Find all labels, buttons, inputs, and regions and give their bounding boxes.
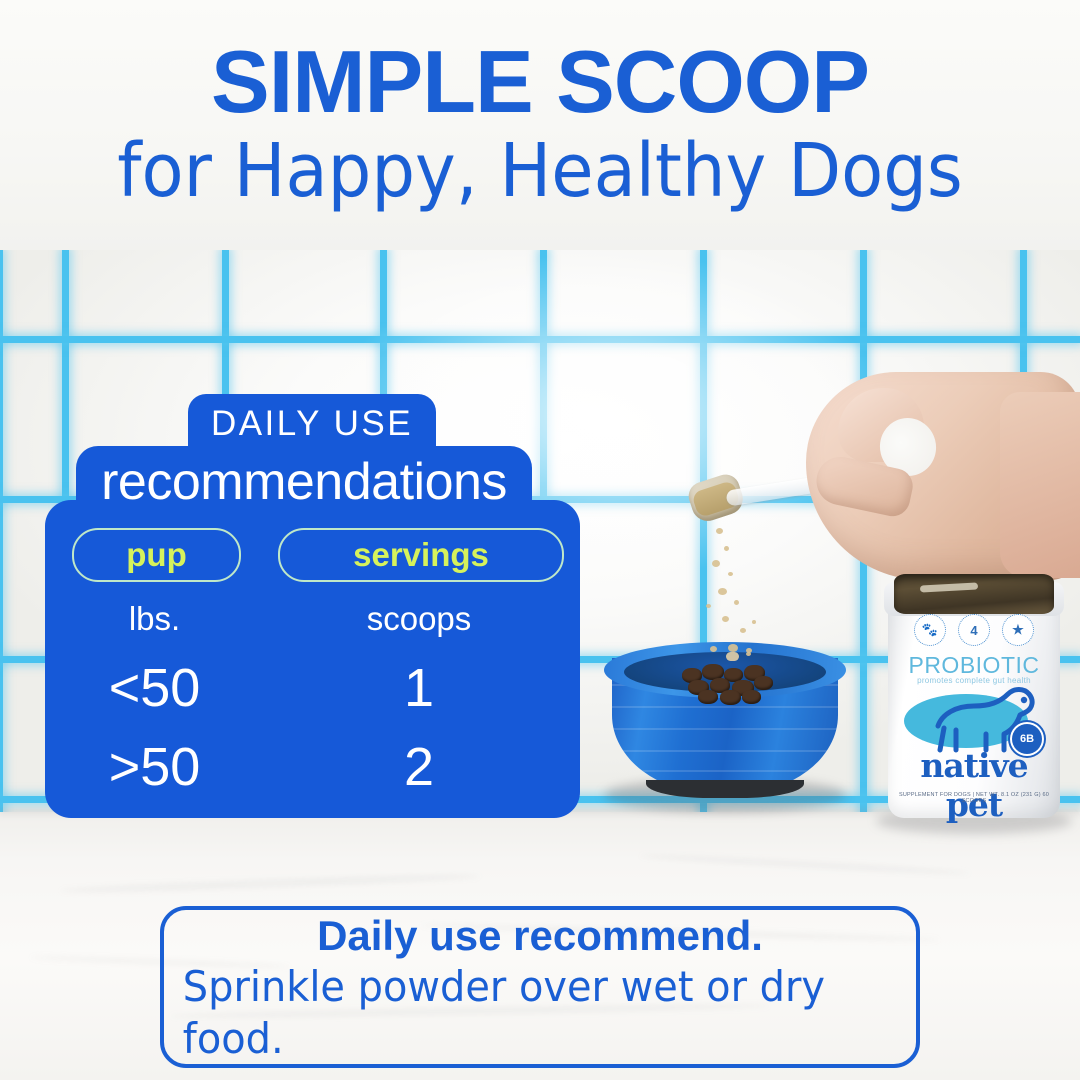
wrist	[1000, 392, 1080, 578]
four-strain-seal-icon: 4	[958, 614, 990, 646]
row-scoops: 1	[278, 657, 560, 719]
caption-line-1: Daily use recommend.	[317, 910, 763, 961]
brand-wordmark: native pet	[888, 746, 1060, 824]
product-tin: 🐾 4 ★ PROBIOTIC promotes complete gut he…	[880, 560, 1066, 828]
badge-servings[interactable]: servings	[278, 528, 564, 582]
dog-bowl	[598, 640, 852, 815]
shield-seal-icon: ★	[1002, 614, 1034, 646]
headline-subtitle: for Happy, Healthy Dogs	[38, 132, 1042, 210]
caption-box: Daily use recommend. Sprinkle powder ove…	[160, 906, 920, 1068]
paw-seal-icon: 🐾	[914, 614, 946, 646]
product-name: PROBIOTIC	[888, 652, 1060, 679]
headline-title: SIMPLE SCOOP	[0, 38, 1080, 126]
tin-fine-print: SUPPLEMENT FOR DOGS | NET WT. 8.1 OZ (23…	[888, 792, 1060, 804]
card-title: recommendations	[76, 452, 532, 512]
caption-line-2: Sprinkle powder over wet or dry food.	[183, 961, 897, 1063]
tin-open-top	[894, 574, 1054, 614]
row-weight: <50	[72, 657, 237, 719]
badge-pup[interactable]: pup	[72, 528, 241, 582]
row-weight: >50	[72, 736, 237, 798]
infographic-canvas: SIMPLE SCOOP for Happy, Healthy Dogs	[0, 0, 1080, 1080]
column-header-scoops: scoops	[278, 600, 560, 638]
row-scoops: 2	[278, 736, 560, 798]
column-header-lbs: lbs.	[72, 600, 237, 638]
card-eyebrow: DAILY USE	[188, 404, 436, 444]
